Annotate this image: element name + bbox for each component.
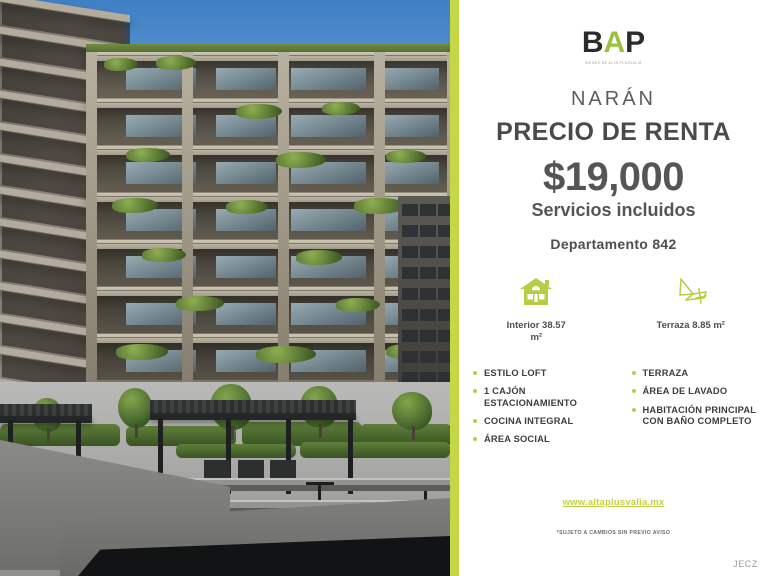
window bbox=[438, 204, 450, 216]
features: ESTILO LOFT1 CAJÓN ESTACIONAMIENTOCOCINA… bbox=[459, 368, 768, 453]
tree-trunk bbox=[412, 426, 415, 440]
price-amount: $19,000 bbox=[459, 155, 768, 200]
window bbox=[402, 246, 418, 258]
tree-trunk bbox=[319, 424, 322, 438]
price-heading: PRECIO DE RENTA bbox=[459, 118, 768, 147]
pergola-canopy bbox=[150, 400, 356, 413]
accent-divider bbox=[450, 0, 459, 576]
features-left-column: ESTILO LOFT1 CAJÓN ESTACIONAMIENTOCOCINA… bbox=[459, 368, 614, 453]
window bbox=[420, 330, 436, 342]
plaza-table-leg bbox=[318, 484, 321, 500]
tree bbox=[392, 392, 432, 430]
area-interior-label: Interior 38.57m² bbox=[459, 320, 614, 344]
building-floor bbox=[86, 52, 450, 98]
feature-left-item: ESTILO LOFT bbox=[473, 368, 614, 379]
tree-trunk bbox=[47, 428, 50, 442]
facade-fin bbox=[182, 52, 193, 382]
feature-left-item: ÁREA SOCIAL bbox=[473, 434, 614, 445]
area-interior: Interior 38.57m² bbox=[459, 272, 614, 344]
window-glazing bbox=[381, 162, 439, 184]
balcony-railing bbox=[94, 243, 450, 249]
hedge-planting bbox=[0, 424, 120, 446]
website-link[interactable]: www.altaplusvalia.mx bbox=[459, 497, 768, 508]
pergola-beam bbox=[150, 413, 356, 420]
window bbox=[438, 309, 450, 321]
feature-right-item: TERRAZA bbox=[632, 368, 768, 379]
hedge-planting bbox=[126, 426, 236, 446]
right-building bbox=[398, 196, 450, 396]
window bbox=[420, 204, 436, 216]
tree-trunk bbox=[231, 426, 234, 440]
logo-letter-b: B bbox=[582, 26, 604, 59]
window-glazing bbox=[381, 115, 439, 137]
facade-fin bbox=[374, 52, 385, 382]
area-terrace-label: Terraza 8.85 m² bbox=[614, 320, 768, 332]
tree-trunk bbox=[135, 424, 138, 438]
window bbox=[402, 225, 418, 237]
window bbox=[420, 288, 436, 300]
info-panel: BAP BIENES DE ALTA PLUSVALÍA NARÁN PRECI… bbox=[459, 0, 768, 576]
feature-right-item: HABITACIÓN PRINCIPAL CON BAÑO COMPLETO bbox=[632, 405, 768, 428]
planter-box bbox=[204, 460, 230, 480]
window bbox=[420, 246, 436, 258]
window-glazing bbox=[216, 162, 276, 184]
building-floor bbox=[86, 240, 450, 286]
window bbox=[438, 288, 450, 300]
development-name: NARÁN bbox=[459, 88, 768, 111]
building-floor bbox=[86, 287, 450, 333]
window bbox=[420, 351, 436, 363]
window bbox=[420, 225, 436, 237]
window bbox=[402, 204, 418, 216]
watermark: JECZ bbox=[733, 559, 758, 569]
price-note: Servicios incluidos bbox=[459, 200, 768, 221]
window bbox=[402, 351, 418, 363]
window-glazing bbox=[216, 256, 276, 278]
house-icon bbox=[459, 272, 614, 312]
facade-fin bbox=[86, 52, 97, 382]
hedge-planting bbox=[300, 442, 450, 458]
planter-box bbox=[270, 460, 296, 480]
main-building bbox=[86, 52, 450, 382]
window bbox=[438, 267, 450, 279]
window-glazing bbox=[291, 209, 366, 231]
advertisement-flyer: BAP BIENES DE ALTA PLUSVALÍA NARÁN PRECI… bbox=[0, 0, 768, 576]
window-glazing bbox=[216, 68, 276, 90]
feature-right-item: ÁREA DE LAVADO bbox=[632, 386, 768, 397]
area-summary: Interior 38.57m² bbox=[459, 272, 768, 344]
disclaimer-text: *SUJETO A CAMBIOS SIN PREVIO AVISO bbox=[459, 530, 768, 536]
window-glazing bbox=[291, 68, 366, 90]
deck-chair-icon bbox=[614, 272, 768, 312]
logo-tagline: BIENES DE ALTA PLUSVALÍA bbox=[459, 61, 768, 65]
features-right-column: TERRAZAÁREA DE LAVADOHABITACIÓN PRINCIPA… bbox=[614, 368, 768, 453]
window bbox=[438, 225, 450, 237]
window bbox=[402, 267, 418, 279]
window bbox=[438, 330, 450, 342]
pergola-canopy bbox=[0, 404, 92, 416]
logo-mark: BAP bbox=[582, 28, 645, 58]
window bbox=[438, 351, 450, 363]
window-glazing bbox=[216, 303, 276, 325]
logo-letter-a: A bbox=[603, 26, 625, 59]
window bbox=[402, 330, 418, 342]
tree bbox=[118, 388, 152, 428]
brand-logo: BAP BIENES DE ALTA PLUSVALÍA bbox=[459, 28, 768, 65]
logo-letter-p: P bbox=[625, 26, 645, 59]
feature-left-item: 1 CAJÓN ESTACIONAMIENTO bbox=[473, 386, 614, 409]
window-glazing bbox=[381, 68, 439, 90]
planter-box bbox=[238, 460, 264, 480]
feature-left-item: COCINA INTEGRAL bbox=[473, 416, 614, 427]
window bbox=[420, 267, 436, 279]
hedge-planting bbox=[176, 444, 296, 458]
balcony-railing bbox=[94, 55, 450, 61]
unit-number: Departamento 842 bbox=[459, 236, 768, 252]
window bbox=[402, 309, 418, 321]
balcony-railing bbox=[94, 290, 450, 296]
window bbox=[420, 309, 436, 321]
window-glazing bbox=[291, 115, 366, 137]
window bbox=[402, 288, 418, 300]
property-photo bbox=[0, 0, 450, 576]
balcony-railing bbox=[94, 337, 450, 343]
window bbox=[438, 246, 450, 258]
facade-fin bbox=[278, 52, 289, 382]
area-terrace: Terraza 8.85 m² bbox=[614, 272, 768, 344]
